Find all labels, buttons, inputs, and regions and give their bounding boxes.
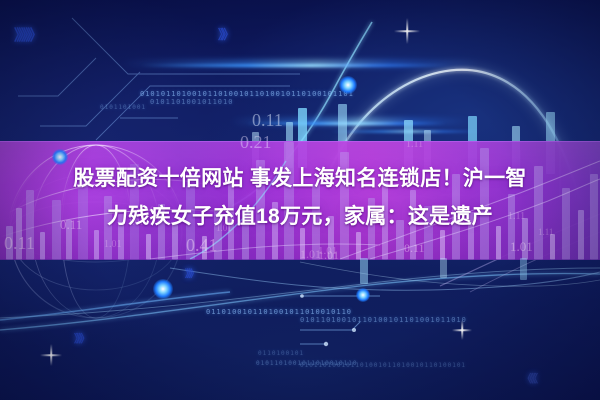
banner-image: 》》》》 》》 》》》 《《《 》》》 01010110100101101001… <box>0 0 600 400</box>
headline-line-1: 股票配资十倍网站 事发上海知名连锁店！沪一智 <box>0 160 600 198</box>
headline-line-2: 力残疾女子充值18万元，家属：这是遗产 <box>0 198 600 236</box>
headline-text: 股票配资十倍网站 事发上海知名连锁店！沪一智 力残疾女子充值18万元，家属：这是… <box>0 160 600 236</box>
